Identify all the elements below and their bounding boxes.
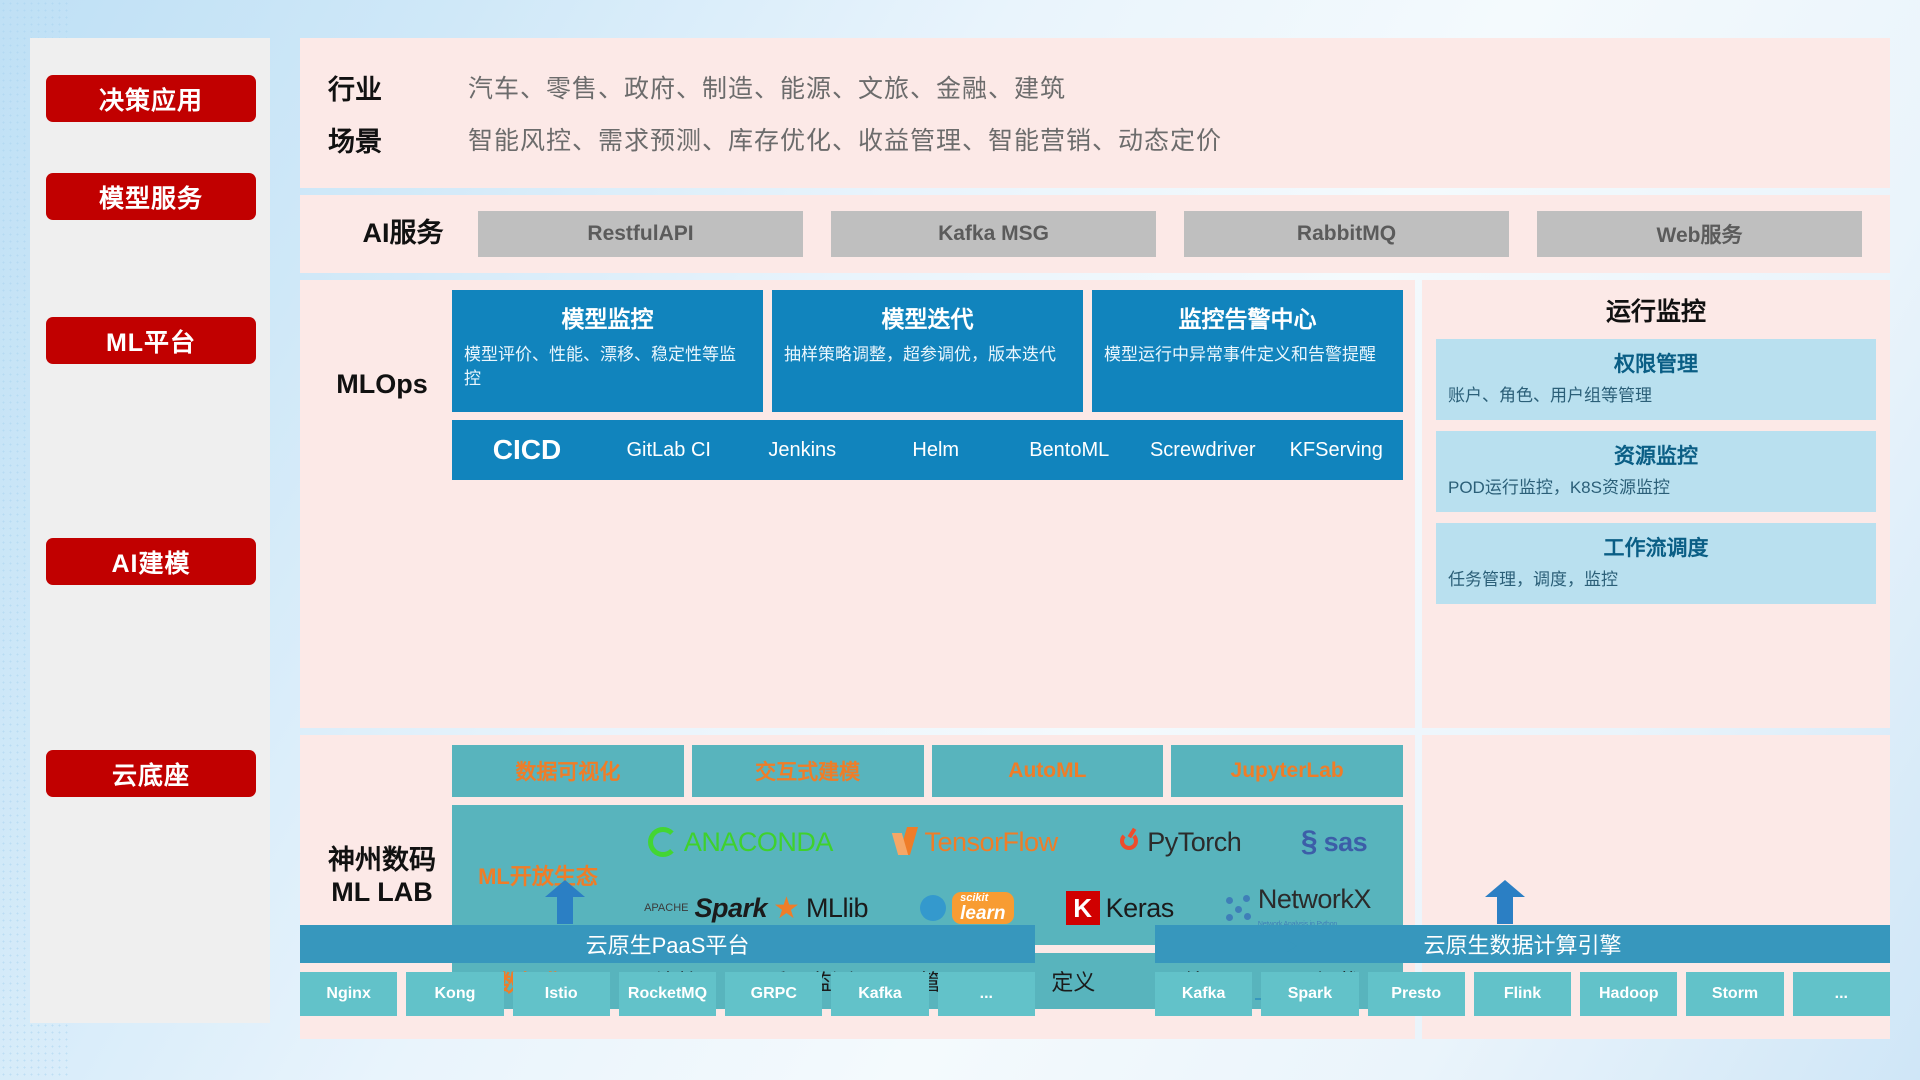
- mlops-card-model-monitoring[interactable]: 模型监控 模型评价、性能、漂移、稳定性等监控: [452, 290, 763, 412]
- cloud-base-section: 云原生PaaS平台 云原生数据计算引擎 Nginx Kong Istio Roc…: [300, 880, 1890, 1030]
- compute-chip-kafka[interactable]: Kafka: [1155, 972, 1252, 1016]
- scenario-value: 智能风控、需求预测、库存优化、收益管理、智能营销、动态定价: [468, 121, 1222, 157]
- layer-chip-decision[interactable]: 决策应用: [46, 75, 256, 122]
- ai-service-chip-rabbitmq[interactable]: RabbitMQ: [1184, 211, 1509, 257]
- card-title: 权限管理: [1448, 348, 1864, 378]
- card-desc: 账户、角色、用户组等管理: [1448, 384, 1864, 408]
- mlops-card-alert-center[interactable]: 监控告警中心 模型运行中异常事件定义和告警提醒: [1092, 290, 1403, 412]
- tensorflow-label: TensorFlow: [925, 827, 1058, 858]
- logo-tensorflow[interactable]: TensorFlow: [893, 827, 1058, 858]
- ml-tool-list: 数据可视化 交互式建模 AutoML JupyterLab: [452, 745, 1403, 797]
- tool-chip-automl[interactable]: AutoML: [932, 745, 1164, 797]
- compute-chip-storm[interactable]: Storm: [1686, 972, 1783, 1016]
- compute-chip-flink[interactable]: Flink: [1474, 972, 1571, 1016]
- monitor-column-top: 运行监控 权限管理 账户、角色、用户组等管理 资源监控 POD运行监控，K8S资…: [1422, 280, 1890, 728]
- ai-service-chip-web[interactable]: Web服务: [1537, 211, 1862, 257]
- card-title: 模型监控: [464, 300, 751, 334]
- mlops-label: MLOps: [312, 290, 452, 480]
- layer-rail: 决策应用 模型服务 ML平台 AI建模 云底座: [30, 38, 270, 1023]
- layer-label: 决策应用: [99, 81, 203, 117]
- layer-chip-model-serving[interactable]: 模型服务: [46, 173, 256, 220]
- cicd-items: GitLab CI Jenkins Helm BentoML Screwdriv…: [602, 435, 1403, 466]
- compute-chip-presto[interactable]: Presto: [1368, 972, 1465, 1016]
- compute-chip-spark[interactable]: Spark: [1261, 972, 1358, 1016]
- anaconda-label: ANACONDA: [684, 827, 833, 858]
- cicd-item-bentoml[interactable]: BentoML: [1003, 435, 1137, 466]
- industry-key: 行业: [328, 68, 382, 107]
- ai-service-chip-restfulapi[interactable]: RestfulAPI: [478, 211, 803, 257]
- cloud-bar-paas[interactable]: 云原生PaaS平台: [300, 925, 1035, 963]
- card-title: 模型迭代: [784, 300, 1071, 334]
- dashed-line-right: [1185, 946, 1281, 948]
- logo-anaconda[interactable]: ANACONDA: [648, 827, 833, 858]
- arrow-up-compute-icon: [1485, 880, 1525, 924]
- industry-value: 汽车、零售、政府、制造、能源、文旅、金融、建筑: [468, 69, 1066, 105]
- anaconda-ring-icon: [648, 827, 678, 857]
- cicd-row: CICD GitLab CI Jenkins Helm BentoML Scre…: [452, 420, 1403, 480]
- paas-chip-kafka[interactable]: Kafka: [831, 972, 928, 1016]
- ai-service-band: AI服务 RestfulAPI Kafka MSG RabbitMQ Web服务: [300, 195, 1890, 273]
- cicd-item-gitlab-ci[interactable]: GitLab CI: [602, 435, 736, 466]
- card-desc: 模型评价、性能、漂移、稳定性等监控: [464, 343, 751, 391]
- sas-label: sas: [1324, 827, 1368, 858]
- arrowhead-right-icon: [1287, 940, 1297, 952]
- cicd-item-kfserving[interactable]: KFServing: [1270, 435, 1404, 466]
- paas-chip-group: Nginx Kong Istio RocketMQ GRPC Kafka ...: [300, 972, 1035, 1016]
- ml-lab-label-line1: 神州数码: [328, 845, 436, 877]
- layer-chip-ml-platform[interactable]: ML平台: [46, 317, 256, 364]
- mlops-card-model-iteration[interactable]: 模型迭代 抽样策略调整，超参调优，版本迭代: [772, 290, 1083, 412]
- logo-row-1: ANACONDA TensorFlow PyTorch: [618, 811, 1397, 873]
- cicd-item-jenkins[interactable]: Jenkins: [736, 435, 870, 466]
- tool-chip-data-visualization[interactable]: 数据可视化: [452, 745, 684, 797]
- monitor-heading: 运行监控: [1436, 292, 1876, 328]
- monitor-card-resource[interactable]: 资源监控 POD运行监控，K8S资源监控: [1436, 431, 1876, 512]
- cloud-bars: 云原生PaaS平台 云原生数据计算引擎: [300, 925, 1890, 963]
- layer-label: ML平台: [106, 323, 196, 359]
- layer-chip-ai-modeling[interactable]: AI建模: [46, 538, 256, 585]
- paas-chip-grpc[interactable]: GRPC: [725, 972, 822, 1016]
- cicd-title: CICD: [452, 434, 602, 466]
- layer-chip-cloud-base[interactable]: 云底座: [46, 750, 256, 797]
- paas-chip-istio[interactable]: Istio: [513, 972, 610, 1016]
- cloud-chip-rows: Nginx Kong Istio RocketMQ GRPC Kafka ...…: [300, 972, 1890, 1016]
- card-desc: 模型运行中异常事件定义和告警提醒: [1104, 343, 1391, 367]
- compute-chip-hadoop[interactable]: Hadoop: [1580, 972, 1677, 1016]
- cicd-item-helm[interactable]: Helm: [869, 435, 1003, 466]
- card-desc: POD运行监控，K8S资源监控: [1448, 476, 1864, 500]
- compute-chip-group: Kafka Spark Presto Flink Hadoop Storm ..…: [1155, 972, 1890, 1016]
- paas-chip-kong[interactable]: Kong: [406, 972, 503, 1016]
- card-title: 工作流调度: [1448, 532, 1864, 562]
- layer-label: 云底座: [112, 756, 190, 792]
- paas-chip-nginx[interactable]: Nginx: [300, 972, 397, 1016]
- industry-scenario-values: 汽车、零售、政府、制造、能源、文旅、金融、建筑 智能风控、需求预测、库存优化、收…: [468, 61, 1890, 165]
- tool-chip-interactive-modeling[interactable]: 交互式建模: [692, 745, 924, 797]
- mlops-card-list: 模型监控 模型评价、性能、漂移、稳定性等监控 模型迭代 抽样策略调整，超参调优，…: [452, 290, 1403, 412]
- card-desc: 任务管理，调度，监控: [1448, 568, 1864, 592]
- layer-label: 模型服务: [99, 179, 203, 215]
- sas-swirl-icon: §: [1301, 825, 1318, 859]
- arrow-up-paas-icon: [545, 880, 585, 924]
- card-title: 资源监控: [1448, 440, 1864, 470]
- ai-service-label: AI服务: [328, 218, 478, 250]
- logo-sas[interactable]: § sas: [1301, 825, 1367, 859]
- pytorch-flame-icon: [1117, 828, 1141, 856]
- mlops-band: MLOps 模型监控 模型评价、性能、漂移、稳定性等监控 模型迭代 抽样策略调整…: [300, 280, 1415, 728]
- monitor-card-workflow[interactable]: 工作流调度 任务管理，调度，监控: [1436, 523, 1876, 604]
- card-title: 监控告警中心: [1104, 300, 1391, 334]
- layer-label: AI建模: [111, 544, 190, 580]
- compute-chip-more[interactable]: ...: [1793, 972, 1890, 1016]
- scenario-key: 场景: [328, 120, 382, 159]
- ai-service-chip-kafka-msg[interactable]: Kafka MSG: [831, 211, 1156, 257]
- ai-service-items: RestfulAPI Kafka MSG RabbitMQ Web服务: [478, 211, 1862, 257]
- tool-chip-jupyterlab[interactable]: JupyterLab: [1171, 745, 1403, 797]
- architecture-diagram: 决策应用 模型服务 ML平台 AI建模 云底座 行业 场景 汽车、零售、政府、制…: [0, 0, 1920, 1080]
- tensorflow-icon: [893, 827, 919, 857]
- paas-chip-rocketmq[interactable]: RocketMQ: [619, 972, 716, 1016]
- mlops-and-monitor-row: MLOps 模型监控 模型评价、性能、漂移、稳定性等监控 模型迭代 抽样策略调整…: [300, 280, 1890, 728]
- paas-chip-more[interactable]: ...: [938, 972, 1035, 1016]
- pytorch-label: PyTorch: [1147, 827, 1241, 858]
- card-desc: 抽样策略调整，超参调优，版本迭代: [784, 343, 1071, 367]
- monitor-card-permission[interactable]: 权限管理 账户、角色、用户组等管理: [1436, 339, 1876, 420]
- logo-pytorch[interactable]: PyTorch: [1117, 827, 1241, 858]
- industry-scenario-keys: 行业 场景: [328, 61, 468, 165]
- cicd-item-screwdriver[interactable]: Screwdriver: [1136, 435, 1270, 466]
- industry-scenario-band: 行业 场景 汽车、零售、政府、制造、能源、文旅、金融、建筑 智能风控、需求预测、…: [300, 38, 1890, 188]
